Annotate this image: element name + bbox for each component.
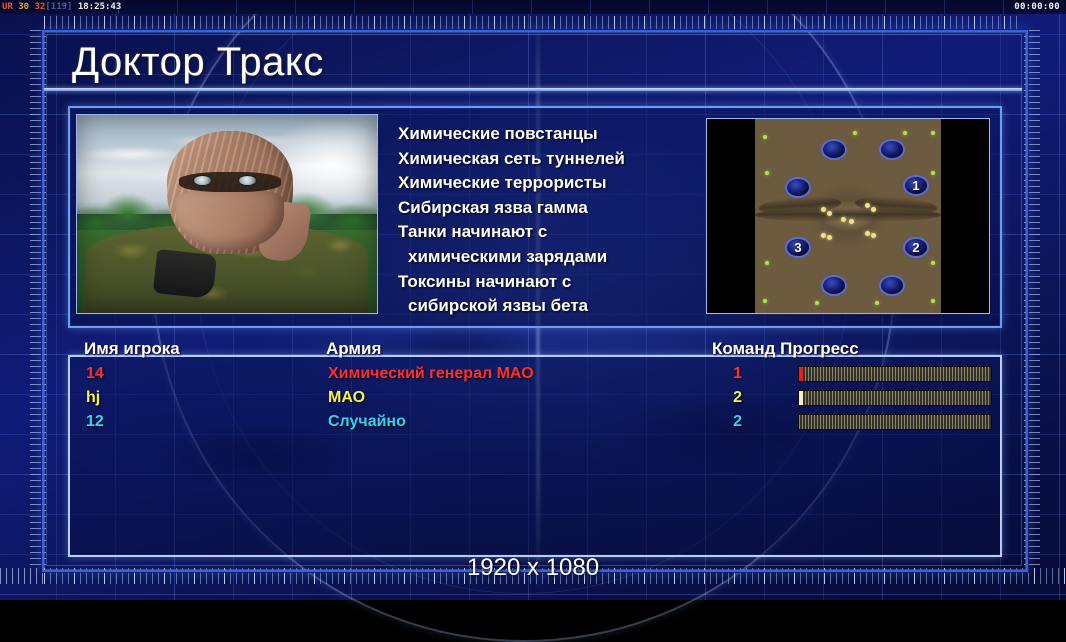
map-resource-gem	[821, 207, 826, 212]
cell-player-name: 12	[86, 410, 104, 434]
description-line: Химические повстанцы	[398, 122, 698, 147]
map-supply-dot	[903, 131, 907, 135]
map-resource-gem	[871, 207, 876, 212]
cell-player-name: 14	[86, 362, 104, 386]
description-line: сибирской язвы бета	[398, 294, 698, 319]
map-terrain: 132	[755, 119, 941, 313]
debug-tag: UR	[2, 2, 13, 12]
description-line: Танки начинают с	[398, 220, 698, 245]
debug-clock: 00:00:00	[1014, 1, 1060, 13]
progress-bar-fill	[799, 367, 803, 381]
map-resource-gem	[865, 231, 870, 236]
description-line: Токсины начинают с	[398, 270, 698, 295]
progress-bar	[798, 414, 992, 430]
map-start-position[interactable]	[787, 179, 809, 196]
map-start-position[interactable]	[881, 141, 903, 158]
progress-bar	[798, 366, 992, 382]
player-table-header: Имя игрока Армия Команд Прогресс	[68, 338, 998, 360]
progress-bar-track	[799, 391, 991, 405]
map-supply-dot	[931, 261, 935, 265]
map-start-position[interactable]	[823, 141, 845, 158]
map-supply-dot	[931, 299, 935, 303]
map-start-position[interactable]: 1	[905, 177, 927, 194]
map-preview[interactable]: 132	[706, 118, 990, 314]
map-resource-gem	[821, 233, 826, 238]
map-start-position[interactable]: 2	[905, 239, 927, 256]
debug-time: 18:25:43	[78, 2, 121, 12]
table-row[interactable]: 14Химический генерал МАО1	[68, 362, 998, 386]
debug-bracket: [119]	[45, 2, 72, 12]
cell-player-name: hj	[86, 386, 100, 410]
cell-army: МАО	[328, 386, 365, 410]
cell-team: 2	[716, 386, 742, 410]
map-start-position[interactable]: 3	[787, 239, 809, 256]
debug-overlay-bar: UR 30 32[119] 18:25:43 00:00:00	[0, 0, 1066, 14]
map-supply-dot	[853, 131, 857, 135]
map-supply-dot	[765, 171, 769, 175]
map-supply-dot	[931, 131, 935, 135]
map-supply-dot	[815, 301, 819, 305]
table-row[interactable]: 12Случайно2	[68, 410, 998, 434]
map-resource-gem	[871, 233, 876, 238]
progress-bar-track	[799, 415, 991, 429]
page-title: Доктор Тракс	[72, 38, 324, 86]
general-portrait	[76, 114, 378, 314]
title-underline	[44, 88, 1022, 91]
progress-bar-track	[799, 367, 991, 381]
description-line: химическими зарядами	[398, 245, 698, 270]
map-resource-gem	[849, 219, 854, 224]
debug-value-2: 32	[35, 2, 46, 12]
description-line: Химические террористы	[398, 171, 698, 196]
column-header-army: Армия	[326, 338, 381, 360]
faction-description-list: Химические повстанцыХимическая сеть тунн…	[398, 122, 698, 319]
map-supply-dot	[763, 135, 767, 139]
cell-army: Случайно	[328, 410, 406, 434]
map-resource-gem	[827, 235, 832, 240]
table-row[interactable]: hjМАО2	[68, 386, 998, 410]
map-resource-gem	[841, 217, 846, 222]
map-supply-dot	[931, 171, 935, 175]
map-supply-dot	[763, 299, 767, 303]
map-start-position[interactable]	[881, 277, 903, 294]
map-supply-dot	[875, 301, 879, 305]
description-line: Химическая сеть туннелей	[398, 147, 698, 172]
cell-army: Химический генерал МАО	[328, 362, 534, 386]
portrait-vignette	[77, 115, 377, 313]
column-header-player-name: Имя игрока	[84, 338, 180, 360]
map-start-position[interactable]	[823, 277, 845, 294]
map-resource-gem	[827, 211, 832, 216]
map-resource-gem	[865, 203, 870, 208]
debug-stats-text: UR 30 32[119] 18:25:43	[2, 1, 121, 13]
progress-bar	[798, 390, 992, 406]
progress-bar-fill	[799, 391, 803, 405]
debug-value-1: 30	[18, 2, 29, 12]
column-header-team-progress: Команд Прогресс	[712, 338, 859, 360]
cell-team: 2	[716, 410, 742, 434]
map-supply-dot	[765, 261, 769, 265]
resolution-label: 1920 x 1080	[0, 552, 1066, 584]
cell-team: 1	[716, 362, 742, 386]
description-line: Сибирская язва гамма	[398, 196, 698, 221]
